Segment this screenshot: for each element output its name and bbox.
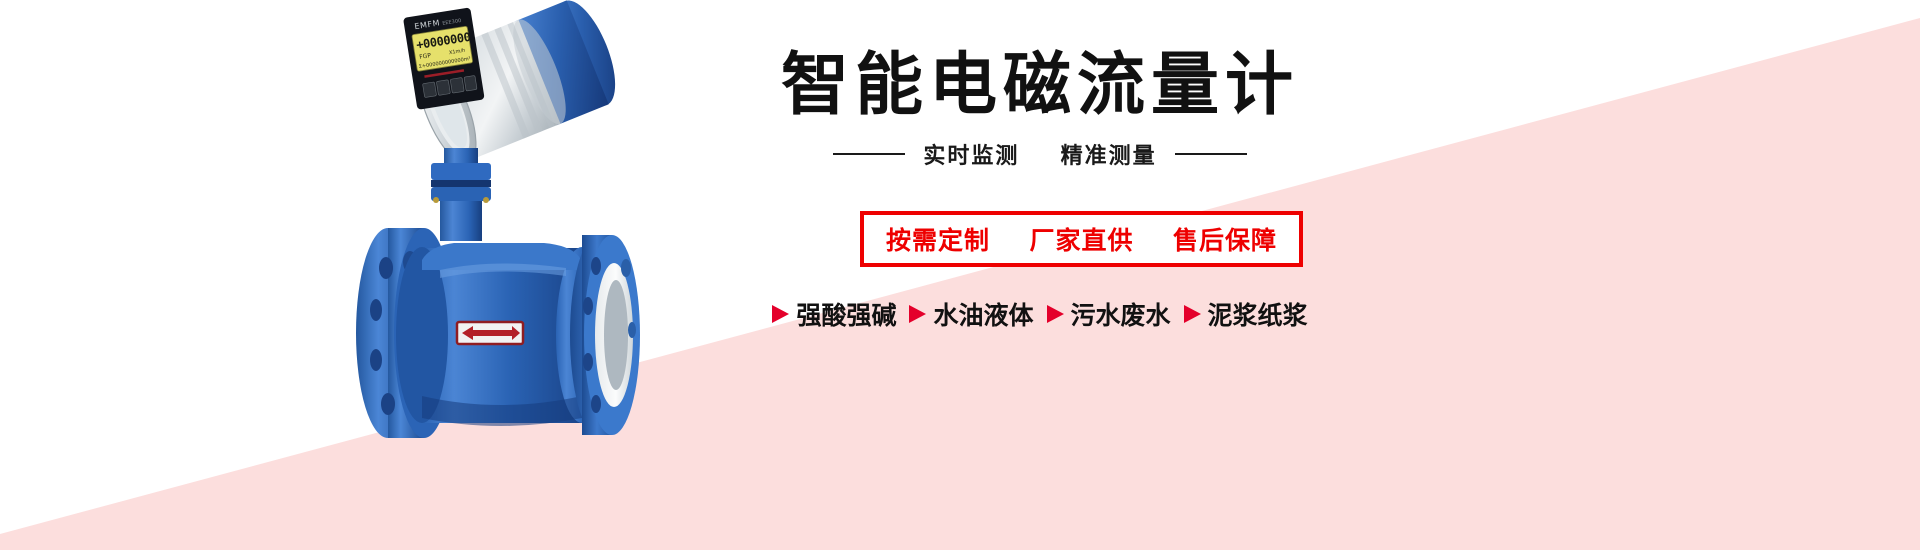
subtitle-rule-left xyxy=(833,153,905,155)
list-item: 强酸强碱 xyxy=(772,296,896,332)
guarantee-item-3: 售后保障 xyxy=(1173,226,1277,255)
subtitle-row: 实时监测 精准测量 xyxy=(660,138,1420,170)
guarantee-badge: 按需定制 厂家直供 售后保障 xyxy=(860,211,1303,267)
list-item: 泥浆纸浆 xyxy=(1184,296,1308,332)
subtitle: 实时监测 精准测量 xyxy=(923,138,1156,170)
product-banner: EMFM EEE300 +0000000 FGP X1m/h Σ+0000000… xyxy=(0,0,1920,550)
feature-list: 强酸强碱 水油液体 污水废水 泥浆纸浆 xyxy=(640,296,1440,332)
triangle-right-icon xyxy=(772,305,789,323)
feature-label: 强酸强碱 xyxy=(796,296,896,332)
list-item: 水油液体 xyxy=(909,296,1033,332)
page-title: 智能电磁流量计 xyxy=(660,52,1420,120)
feature-label: 水油液体 xyxy=(933,296,1033,332)
feature-label: 泥浆纸浆 xyxy=(1208,296,1308,332)
banner-copy-column: 智能电磁流量计 实时监测 精准测量 按需定制 厂家直供 售后保障 强酸强碱 xyxy=(660,0,1420,550)
subtitle-rule-right xyxy=(1175,153,1247,155)
triangle-right-icon xyxy=(909,305,926,323)
guarantee-badge-text: 按需定制 厂家直供 售后保障 xyxy=(886,221,1277,257)
feature-label: 污水废水 xyxy=(1071,296,1171,332)
guarantee-item-1: 按需定制 xyxy=(886,226,990,255)
guarantee-item-2: 厂家直供 xyxy=(1029,226,1133,255)
subtitle-text-right: 精准测量 xyxy=(1061,144,1157,169)
subtitle-text-left: 实时监测 xyxy=(923,144,1019,169)
list-item: 污水废水 xyxy=(1047,296,1171,332)
triangle-right-icon xyxy=(1184,305,1201,323)
flow-direction-arrow-icon xyxy=(457,322,523,344)
triangle-right-icon xyxy=(1047,305,1064,323)
